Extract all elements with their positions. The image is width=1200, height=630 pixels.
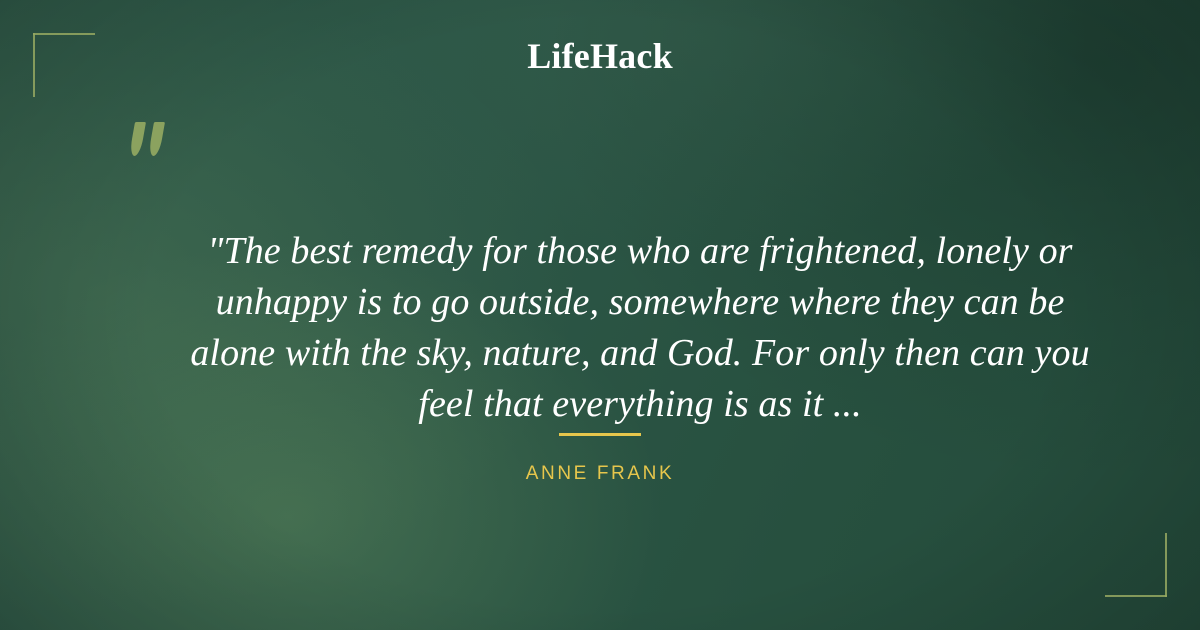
quote-text: "The best remedy for those who are frigh…: [140, 226, 1140, 430]
quotation-mark-stroke-left: [129, 122, 146, 156]
corner-bracket-top-left-horizontal: [33, 33, 95, 35]
quote-line: feel that everything is as it ...: [140, 379, 1140, 430]
quotation-mark-stroke-right: [148, 122, 165, 156]
author-divider: [559, 433, 641, 436]
quote-card: LifeHack "The best remedy for those who …: [0, 0, 1200, 630]
corner-bracket-bottom-right-vertical: [1165, 533, 1167, 597]
lifehack-logo: LifeHack: [0, 38, 1200, 74]
quote-line: alone with the sky, nature, and God. For…: [140, 328, 1140, 379]
quotation-mark-icon: [128, 108, 182, 164]
quote-author: ANNE FRANK: [0, 463, 1200, 486]
quote-line: unhappy is to go outside, somewhere wher…: [140, 277, 1140, 328]
corner-bracket-bottom-right-icon: [1105, 533, 1167, 597]
quote-line: "The best remedy for those who are frigh…: [140, 226, 1140, 277]
corner-bracket-bottom-right-horizontal: [1105, 595, 1167, 597]
